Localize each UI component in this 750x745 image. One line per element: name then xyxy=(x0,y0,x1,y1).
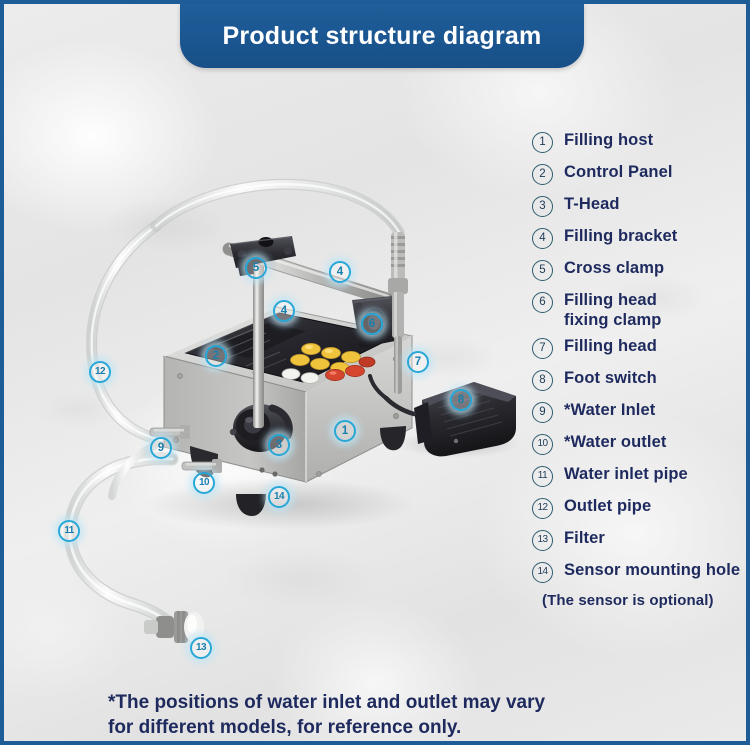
legend-label: Filling host xyxy=(564,130,653,150)
water-inlet-pipe xyxy=(70,459,176,632)
callout-outlet-pipe: 12 xyxy=(89,361,111,383)
legend-item-cross-clamp: 5 Cross clamp xyxy=(532,258,744,281)
page-title: Product structure diagram xyxy=(223,22,542,51)
callout-cross-clamp: 5 xyxy=(245,257,267,279)
callout-control-panel: 2 xyxy=(205,345,227,367)
legend-number: 3 xyxy=(532,196,553,217)
callout-water-inlet: 9 xyxy=(150,437,172,459)
legend-number: 7 xyxy=(532,338,553,359)
legend-item-t-head: 3 T-Head xyxy=(532,194,744,217)
callout-sensor-mounting-hole: 14 xyxy=(268,486,290,508)
legend-label: Sensor mounting hole xyxy=(564,560,740,580)
nozzle-barb xyxy=(391,232,405,280)
legend-label: Filter xyxy=(564,528,605,548)
callout-filling-head: 7 xyxy=(407,351,429,373)
footnote: *The positions of water inlet and outlet… xyxy=(108,690,668,740)
legend-label: Filling head xyxy=(564,336,657,356)
legend-number: 9 xyxy=(532,402,553,423)
legend-label: Control Panel xyxy=(564,162,673,182)
legend-item-control-panel: 2 Control Panel xyxy=(532,162,744,185)
legend-item-water-inlet: 9 *Water Inlet xyxy=(532,400,744,423)
legend-item-sensor-mounting-hole: 14 Sensor mounting hole xyxy=(532,560,744,583)
legend-label: Water inlet pipe xyxy=(564,464,688,484)
product-illustration xyxy=(4,4,524,741)
footnote-line-2: for different models, for reference only… xyxy=(108,715,668,740)
outlet-pipe xyxy=(92,226,167,441)
legend-item-filling-bracket: 4 Filling bracket xyxy=(532,226,744,249)
legend-label: Filling bracket xyxy=(564,226,677,246)
legend-item-water-outlet: 10 *Water outlet xyxy=(532,432,744,455)
header-banner: Product structure diagram xyxy=(180,4,584,68)
legend-label: Filling head xyxy=(564,290,661,310)
legend-label: Cross clamp xyxy=(564,258,664,278)
legend-item-filling-head-fixing-clamp: 6 Filling head fixing clamp xyxy=(532,290,744,330)
legend-label: *Water outlet xyxy=(564,432,666,452)
legend-number: 1 xyxy=(532,132,553,153)
legend-item-filling-host: 1 Filling host xyxy=(532,130,744,153)
legend-label: *Water Inlet xyxy=(564,400,655,420)
legend-number: 5 xyxy=(532,260,553,281)
legend-number: 8 xyxy=(532,370,553,391)
legend-number: 12 xyxy=(532,498,553,519)
legend-number: 6 xyxy=(532,292,553,313)
legend-label: T-Head xyxy=(564,194,620,214)
callout-t-head: 3 xyxy=(268,434,290,456)
callout-filling-bracket-vertical: 4 xyxy=(273,300,295,322)
legend-item-filling-head: 7 Filling head xyxy=(532,336,744,359)
filling-bracket-vertical xyxy=(253,256,264,428)
legend-number: 2 xyxy=(532,164,553,185)
poster-frame: Product structure diagram xyxy=(4,4,746,741)
legend-label-line2: fixing clamp xyxy=(564,310,661,330)
callout-water-outlet: 10 xyxy=(193,472,215,494)
callout-filling-head-fixing-clamp: 6 xyxy=(361,313,383,335)
legend-label: Outlet pipe xyxy=(564,496,651,516)
legend-number: 11 xyxy=(532,466,553,487)
callout-filling-bracket-horizontal: 4 xyxy=(329,261,351,283)
legend-item-outlet-pipe: 12 Outlet pipe xyxy=(532,496,744,519)
legend-number: 13 xyxy=(532,530,553,551)
legend-list: 1 Filling host 2 Control Panel 3 T-Head … xyxy=(532,130,744,609)
legend-sensor-note: (The sensor is optional) xyxy=(542,592,744,609)
callout-filling-host: 1 xyxy=(334,420,356,442)
upper-feed-tube xyxy=(156,184,399,232)
legend-item-foot-switch: 8 Foot switch xyxy=(532,368,744,391)
legend-number: 4 xyxy=(532,228,553,249)
inlet-connector-tube xyxy=(112,446,154,496)
legend-number: 10 xyxy=(532,434,553,455)
legend-number: 14 xyxy=(532,562,553,583)
legend-item-filter: 13 Filter xyxy=(532,528,744,551)
legend-label: Foot switch xyxy=(564,368,657,388)
legend-item-water-inlet-pipe: 11 Water inlet pipe xyxy=(532,464,744,487)
callout-water-inlet-pipe: 11 xyxy=(58,520,80,542)
callout-filter: 13 xyxy=(190,637,212,659)
callout-foot-switch: 8 xyxy=(450,389,472,411)
footnote-line-1: *The positions of water inlet and outlet… xyxy=(108,690,668,715)
